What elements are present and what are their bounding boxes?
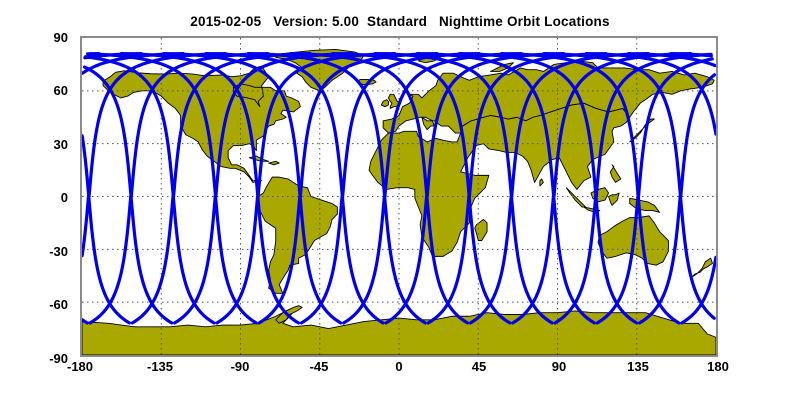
x-tick-label-135: 135 [616,359,660,374]
y-tick-label-0: 0 [24,190,68,205]
y-tick-label-60: 60 [24,83,68,98]
x-tick-label-n135: -135 [138,359,182,374]
orbit-map-figure: 2015-02-05 Version: 5.00 Standard Nightt… [0,0,800,400]
world-map-svg [82,38,716,355]
x-tick-label-90: 90 [537,359,581,374]
x-tick-label-n90: -90 [218,359,262,374]
figure-title: 2015-02-05 Version: 5.00 Standard Nightt… [0,14,800,29]
x-tick-label-180: 180 [696,359,740,374]
plot-area [80,36,718,357]
x-tick-label-n180: -180 [58,359,102,374]
x-tick-label-45: 45 [457,359,501,374]
y-tick-label-90: 90 [24,30,68,45]
y-tick-label-n30: -30 [24,244,68,259]
y-tick-label-n60: -60 [24,297,68,312]
y-tick-label-30: 30 [24,137,68,152]
x-tick-label-n45: -45 [297,359,341,374]
x-tick-label-0: 0 [377,359,421,374]
